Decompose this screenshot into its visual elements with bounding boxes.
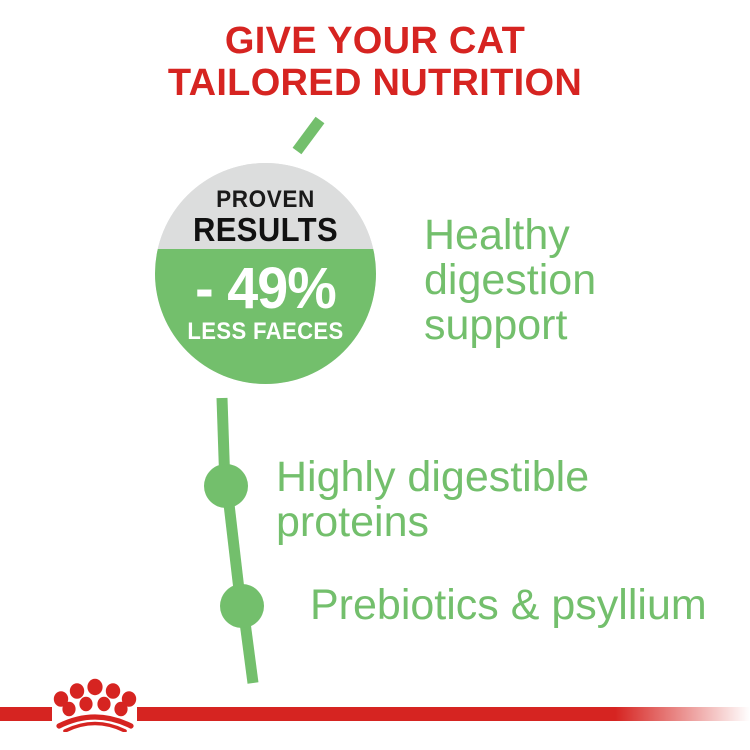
feature-line: Highly digestible [276, 455, 589, 500]
pack-infographic-panel: GIVE YOUR CAT TAILORED NUTRITION PROVEN … [0, 0, 750, 750]
feature-highly-digestible-proteins: Highly digestible proteins [276, 455, 589, 545]
badge-value: - 49% [159, 249, 371, 319]
connector-tick-top [297, 120, 320, 151]
feature-line: Healthy [424, 213, 596, 258]
feature-line: Prebiotics & psyllium [310, 583, 707, 628]
footer-bar-left [0, 707, 52, 721]
bullet-dot-proteins [204, 464, 248, 508]
royal-canin-crown-icon [52, 676, 138, 732]
feature-line: proteins [276, 500, 589, 545]
badge-bottom-half: - 49% LESS FAECES [155, 249, 376, 384]
badge-results-label: RESULTS [162, 213, 370, 247]
feature-healthy-digestion-support: Healthy digestion support [424, 213, 596, 348]
badge-top-half: PROVEN RESULTS [155, 163, 376, 249]
badge-sub-label: LESS FAECES [164, 319, 367, 344]
feature-line: support [424, 303, 596, 348]
bullet-dot-prebiotics [220, 584, 264, 628]
feature-prebiotics-psyllium: Prebiotics & psyllium [310, 583, 707, 628]
badge-proven-label: PROVEN [162, 163, 370, 213]
footer-bar-right [137, 707, 750, 721]
proven-results-badge: PROVEN RESULTS - 49% LESS FAECES [155, 163, 376, 384]
feature-line: digestion [424, 258, 596, 303]
